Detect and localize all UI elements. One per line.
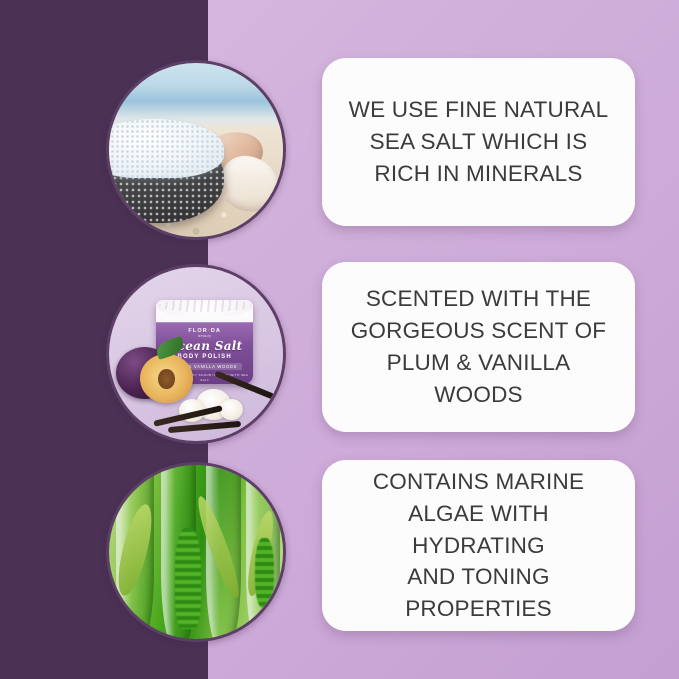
salt-crystals (109, 119, 224, 178)
algae-cluster (175, 528, 201, 629)
plum-halved (140, 354, 192, 403)
feature-card-text: SCENTED WITH THE GORGEOUS SCENT OF PLUM … (333, 283, 625, 411)
feature-image-marine-algae (106, 462, 286, 642)
product-jar-photo: FLOR•DA beauty Ocean Salt BODY POLISH PL… (109, 267, 283, 441)
brand-text-end: DA (211, 328, 221, 334)
product-type: BODY POLISH (177, 354, 231, 360)
brand-tagline: beauty (198, 334, 211, 338)
marine-algae-photo (109, 465, 283, 639)
infographic-canvas: FLOR•DA beauty Ocean Salt BODY POLISH PL… (0, 0, 679, 679)
feature-image-product-jar: FLOR•DA beauty Ocean Salt BODY POLISH PL… (106, 264, 286, 444)
whipped-cream-top (156, 300, 253, 317)
feature-card-text: WE USE FINE NATURAL SEA SALT WHICH IS RI… (331, 94, 627, 190)
feature-card-marine-algae: CONTAINS MARINE ALGAE WITH HYDRATING AND… (322, 460, 635, 631)
feature-card-scent: SCENTED WITH THE GORGEOUS SCENT OF PLUM … (322, 262, 635, 432)
feature-image-sea-salt (106, 60, 286, 240)
feature-card-text: CONTAINS MARINE ALGAE WITH HYDRATING AND… (322, 466, 635, 626)
algae-cluster (255, 538, 274, 608)
feature-card-sea-salt: WE USE FINE NATURAL SEA SALT WHICH IS RI… (322, 58, 635, 226)
vanilla-flower (220, 399, 243, 420)
sea-salt-bowl-photo (109, 63, 283, 237)
